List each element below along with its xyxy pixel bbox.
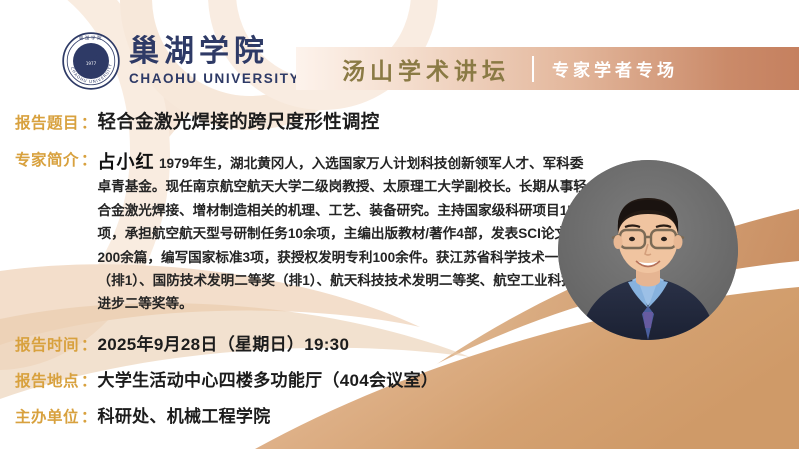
value-host-unit: 科研处、机械工程学院 [98,402,271,427]
colon-report-time: ： [79,333,98,355]
banner-main-title: 汤山学术讲坛 [342,52,510,86]
university-name-en: CHAOHU UNIVERSITY [129,72,300,86]
university-name-cn: 巢湖学院 [129,37,300,67]
speaker-name: 占小红 [98,152,155,172]
row-report-place: 报告地点 ： 大学生活动中心四楼多功能厅（404会议室） [0,366,799,391]
label-report-title: 报告题目 [15,111,79,133]
colon-host-unit: ： [79,405,98,427]
label-speaker-bio: 专家简介 [15,148,79,170]
banner-divider [532,56,534,82]
label-report-place: 报告地点 [15,369,79,391]
value-report-place: 大学生活动中心四楼多功能厅（404会议室） [98,366,439,391]
row-host-unit: 主办单位 ： 科研处、机械工程学院 [0,402,799,427]
svg-text:1977: 1977 [86,61,97,66]
label-report-time: 报告时间 [15,333,79,355]
poster-root: 1977 巢湖学院 CHAOHU UNIVERSITY 巢湖学院 CHAOHU … [0,0,799,449]
row-report-title: 报告题目 ： 轻合金激光焊接的跨尺度形性调控 [0,108,799,134]
speaker-portrait [558,160,738,340]
colon-report-place: ： [79,369,98,391]
speaker-bio-text: 1979年生，湖北黄冈人，入选国家万人计划科技创新领军人才、军科委卓青基金。现任… [98,156,587,311]
label-host-unit: 主办单位 [15,405,79,427]
brand-lockup: 1977 巢湖学院 CHAOHU UNIVERSITY 巢湖学院 CHAOHU … [62,32,300,90]
speaker-bio-block: 占小红 1979年生，湖北黄冈人，入选国家万人计划科技创新领军人才、军科委卓青基… [98,148,588,316]
value-report-title: 轻合金激光焊接的跨尺度形性调控 [98,108,380,134]
colon-speaker-bio: ： [79,148,98,170]
banner-subtitle: 专家学者专场 [552,56,678,81]
poster-header: 1977 巢湖学院 CHAOHU UNIVERSITY 巢湖学院 CHAOHU … [0,0,799,100]
chaohu-university-seal-icon: 1977 巢湖学院 CHAOHU UNIVERSITY [62,32,120,90]
value-report-time: 2025年9月28日（星期日）19:30 [98,330,350,355]
event-banner: 汤山学术讲坛 专家学者专场 [296,47,799,90]
speaker-portrait-image [558,160,738,340]
colon-report-title: ： [79,111,98,133]
